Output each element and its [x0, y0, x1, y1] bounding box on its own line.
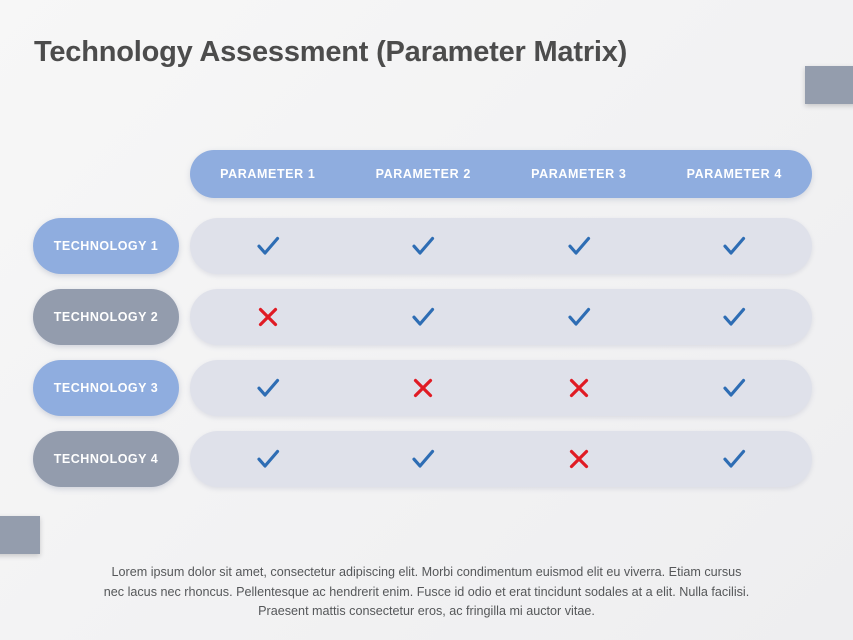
technology-label-text: TECHNOLOGY 2 [54, 310, 158, 324]
parameter-matrix: PARAMETER 1 PARAMETER 2 PARAMETER 3 PARA… [0, 0, 853, 640]
technology-label-text: TECHNOLOGY 1 [54, 239, 158, 253]
column-header-1: PARAMETER 1 [190, 167, 346, 181]
matrix-cell-r4-c2[interactable] [346, 446, 502, 472]
table-row [190, 360, 812, 416]
footer-line-1: Lorem ipsum dolor sit amet, consectetur … [60, 563, 793, 583]
slide-canvas: Technology Assessment (Parameter Matrix)… [0, 0, 853, 640]
table-row [190, 289, 812, 345]
table-row [190, 431, 812, 487]
check-icon [566, 304, 592, 330]
technology-label-text: TECHNOLOGY 3 [54, 381, 158, 395]
matrix-cell-r2-c2[interactable] [346, 304, 502, 330]
check-icon [255, 375, 281, 401]
check-icon [255, 233, 281, 259]
matrix-cell-r2-c1[interactable] [190, 304, 346, 330]
cross-icon [255, 304, 281, 330]
matrix-cell-r3-c4[interactable] [657, 375, 813, 401]
column-header-4: PARAMETER 4 [657, 167, 813, 181]
cross-icon [566, 375, 592, 401]
matrix-cell-r1-c2[interactable] [346, 233, 502, 259]
technology-label-text: TECHNOLOGY 4 [54, 452, 158, 466]
column-header-3: PARAMETER 3 [501, 167, 657, 181]
technology-label-1[interactable]: TECHNOLOGY 1 [33, 218, 179, 274]
check-icon [410, 304, 436, 330]
footer-line-2: nec lacus nec rhoncus. Pellentesque ac h… [60, 583, 793, 603]
check-icon [721, 375, 747, 401]
footer-line-3: Praesent mattis consectetur eros, ac fri… [60, 602, 793, 622]
check-icon [721, 304, 747, 330]
matrix-cell-r2-c4[interactable] [657, 304, 813, 330]
matrix-cell-r4-c3[interactable] [501, 446, 657, 472]
matrix-header-row: PARAMETER 1 PARAMETER 2 PARAMETER 3 PARA… [190, 150, 812, 198]
column-header-2: PARAMETER 2 [346, 167, 502, 181]
matrix-cell-r1-c3[interactable] [501, 233, 657, 259]
check-icon [721, 446, 747, 472]
technology-label-4[interactable]: TECHNOLOGY 4 [33, 431, 179, 487]
check-icon [566, 233, 592, 259]
check-icon [255, 446, 281, 472]
matrix-cell-r1-c1[interactable] [190, 233, 346, 259]
matrix-cell-r3-c3[interactable] [501, 375, 657, 401]
matrix-cell-r3-c2[interactable] [346, 375, 502, 401]
matrix-cell-r3-c1[interactable] [190, 375, 346, 401]
matrix-cell-r4-c4[interactable] [657, 446, 813, 472]
cross-icon [566, 446, 592, 472]
check-icon [410, 446, 436, 472]
check-icon [410, 233, 436, 259]
matrix-cell-r1-c4[interactable] [657, 233, 813, 259]
matrix-cell-r4-c1[interactable] [190, 446, 346, 472]
matrix-cell-r2-c3[interactable] [501, 304, 657, 330]
footer-description: Lorem ipsum dolor sit amet, consectetur … [60, 563, 793, 622]
check-icon [721, 233, 747, 259]
table-row [190, 218, 812, 274]
technology-label-2[interactable]: TECHNOLOGY 2 [33, 289, 179, 345]
technology-label-3[interactable]: TECHNOLOGY 3 [33, 360, 179, 416]
cross-icon [410, 375, 436, 401]
